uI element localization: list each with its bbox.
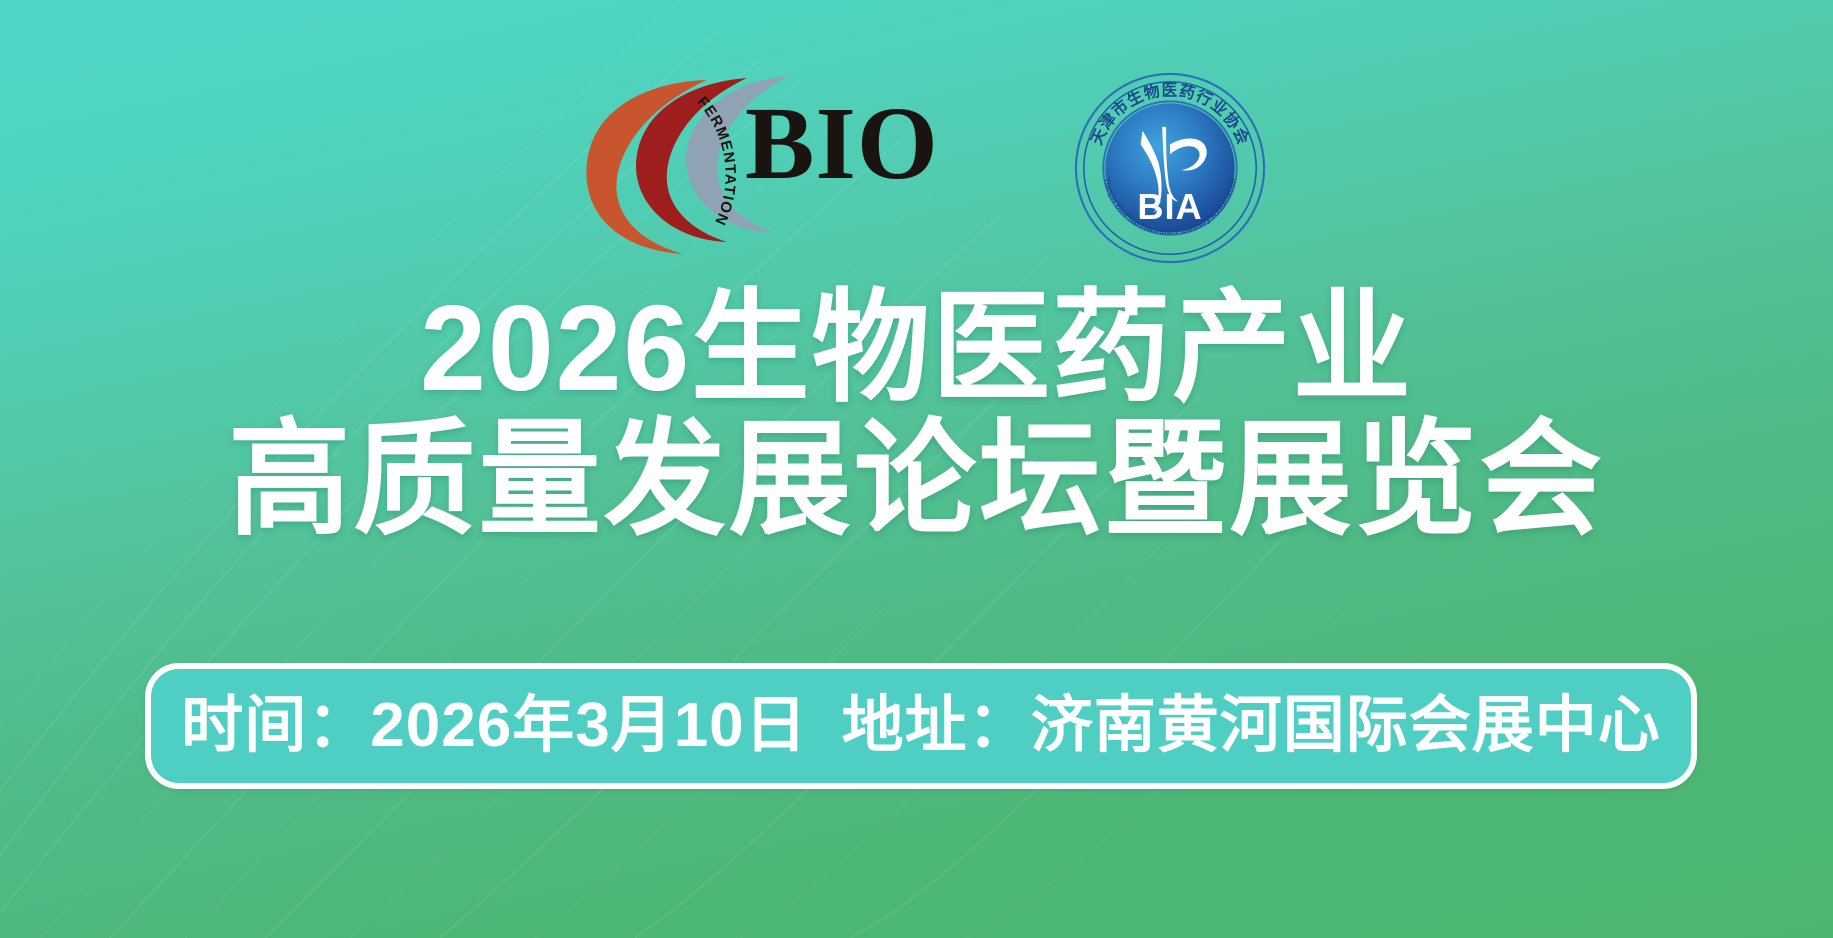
time-value: 2026年3月10日 [370, 691, 807, 760]
time-label: 时间： [181, 691, 370, 760]
bia-seal-logo: 天津市生物医药行业协会 Tianjin BioPharmaceutics Ind… [1072, 70, 1268, 266]
event-banner: FERMENTATION BIO [0, 0, 1833, 938]
logo-row: FERMENTATION BIO [0, 0, 1833, 270]
event-info-text: 时间：2026年3月10日地址：济南黄河国际会展中心 [181, 694, 1660, 758]
headline-line-1: 2026生物医药产业 [27, 286, 1805, 410]
bio-fermentation-logo: FERMENTATION BIO [575, 74, 925, 246]
address-label: 地址： [842, 691, 1031, 760]
headline-line-2: 高质量发展论坛暨展览会 [27, 416, 1805, 544]
seal-bia-wordmark: BIA [1137, 186, 1202, 227]
event-info-pill: 时间：2026年3月10日地址：济南黄河国际会展中心 [145, 663, 1697, 789]
address-value: 济南黄河国际会展中心 [1031, 691, 1661, 760]
bio-wordmark: BIO [745, 86, 939, 201]
headline-block: 2026生物医药产业 高质量发展论坛暨展览会 [0, 286, 1833, 544]
